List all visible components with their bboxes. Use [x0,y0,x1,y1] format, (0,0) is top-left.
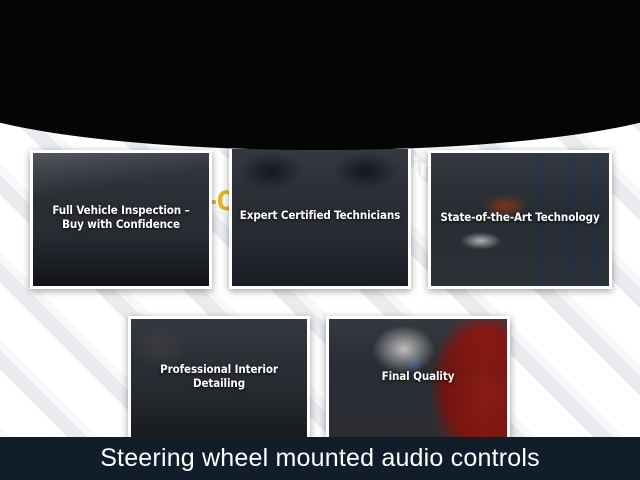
feature-card-caption: State-of-the-Art Technology [431,210,609,224]
slide-container: See what goes into every Pre-Owned Recon… [0,0,640,480]
feature-card-caption: Final Quality [329,369,507,383]
feature-card-expert-certified-technicians[interactable]: Expert Certified Technicians [229,146,411,289]
feature-card-caption: Full Vehicle Inspection – Buy with Confi… [33,203,209,231]
feature-card-professional-interior-detailing[interactable]: Professional Interior Detailing [128,316,310,440]
bottom-caption-banner: Steering wheel mounted audio controls [0,437,640,480]
header-banner [0,0,640,150]
feature-card-caption: Professional Interior Detailing [131,362,307,390]
feature-card-full-vehicle-inspection[interactable]: Full Vehicle Inspection – Buy with Confi… [30,150,212,289]
feature-card-state-of-the-art-technology[interactable]: State-of-the-Art Technology [428,150,612,289]
feature-card-caption: Expert Certified Technicians [232,208,408,222]
feature-card-final-quality[interactable]: Final Quality [326,316,510,440]
bottom-caption-text: Steering wheel mounted audio controls [100,444,540,473]
